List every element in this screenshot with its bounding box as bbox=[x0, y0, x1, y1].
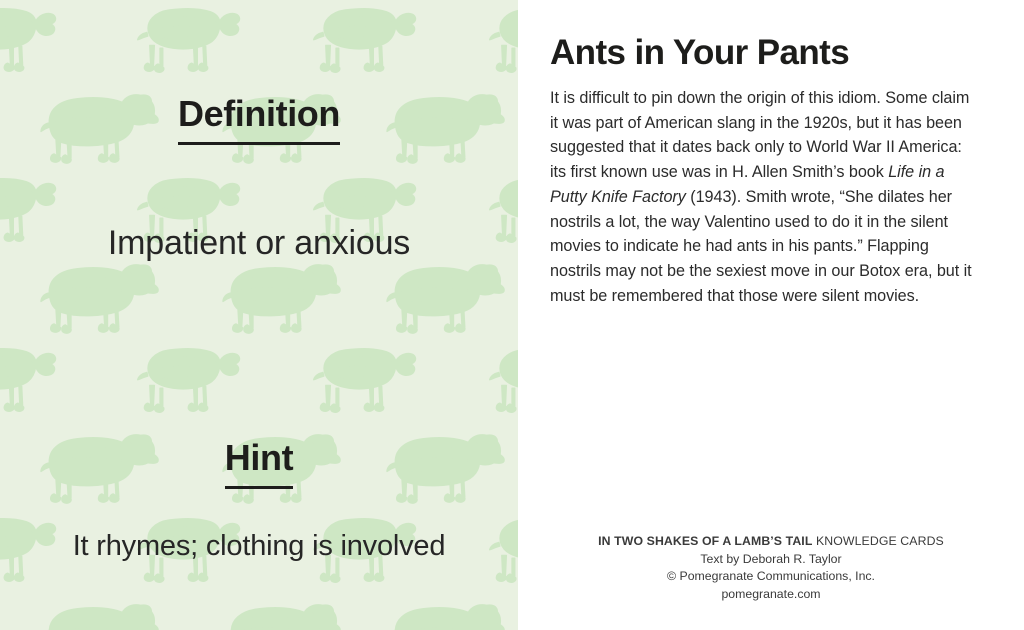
definition-value: Impatient or anxious bbox=[0, 223, 518, 264]
footer-series-suffix: KNOWLEDGE CARDS bbox=[812, 534, 943, 548]
hint-value: It rhymes; clothing is involved bbox=[0, 529, 518, 564]
left-panel: Definition Impatient or anxious Hint It … bbox=[0, 0, 518, 630]
knowledge-card: Definition Impatient or anxious Hint It … bbox=[0, 0, 1024, 630]
footer-website: pomegranate.com bbox=[518, 586, 1024, 604]
definition-heading: Definition bbox=[178, 96, 340, 145]
definition-block: Definition Impatient or anxious bbox=[0, 96, 518, 264]
hint-heading: Hint bbox=[225, 440, 293, 489]
idiom-title: Ants in Your Pants bbox=[550, 34, 978, 72]
footer-series-line: IN TWO SHAKES OF A LAMB’S TAIL KNOWLEDGE… bbox=[518, 533, 1024, 551]
footer-copyright: © Pomegranate Communications, Inc. bbox=[518, 568, 1024, 586]
idiom-article: Ants in Your Pants It is difficult to pi… bbox=[550, 34, 978, 309]
left-panel-content: Definition Impatient or anxious Hint It … bbox=[0, 0, 518, 630]
idiom-body: It is difficult to pin down the origin o… bbox=[550, 86, 978, 309]
footer-series-name: IN TWO SHAKES OF A LAMB’S TAIL bbox=[598, 534, 812, 548]
card-footer: IN TWO SHAKES OF A LAMB’S TAIL KNOWLEDGE… bbox=[518, 533, 1024, 604]
right-panel: Ants in Your Pants It is difficult to pi… bbox=[518, 0, 1024, 630]
hint-block: Hint It rhymes; clothing is involved bbox=[0, 440, 518, 564]
footer-author: Text by Deborah R. Taylor bbox=[518, 551, 1024, 569]
